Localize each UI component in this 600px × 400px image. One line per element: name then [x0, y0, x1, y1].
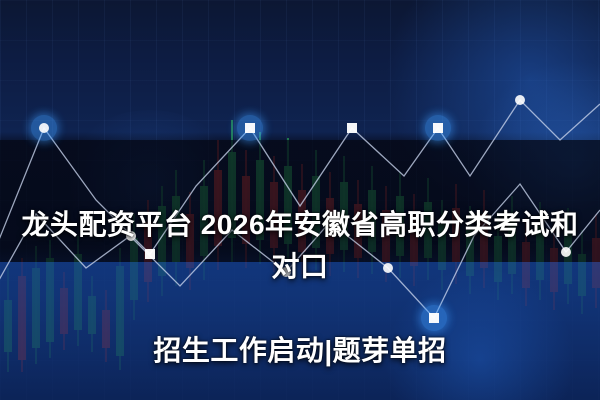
banner-image: 龙头配资平台 2026年安徽省高职分类考试和对口 招生工作启动|题芽单招: [0, 0, 600, 400]
headline-line-1: 龙头配资平台 2026年安徽省高职分类考试和对口: [14, 204, 586, 288]
page-title: 龙头配资平台 2026年安徽省高职分类考试和对口 招生工作启动|题芽单招: [0, 162, 600, 400]
headline-line-2: 招生工作启动|题芽单招: [14, 330, 586, 372]
